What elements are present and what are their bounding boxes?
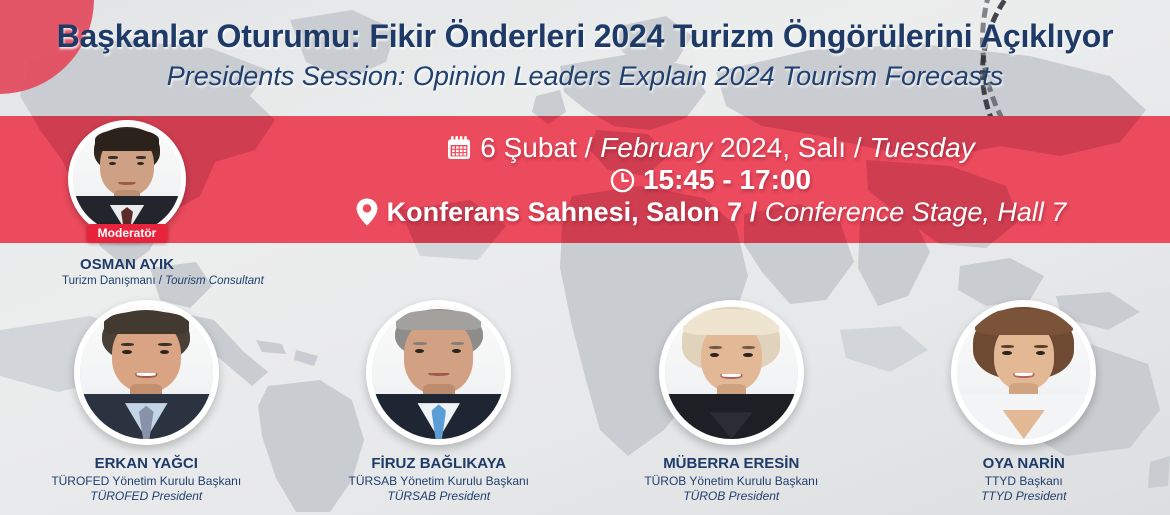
speaker-name: FİRUZ BAĞLIKAYA [371,455,506,472]
moderator-role-tr: Turizm Danışmanı / [62,275,162,287]
speaker-avatar [74,300,219,445]
event-date-tr: 6 Şubat / [480,132,592,163]
event-time: 15:45 - 17:00 [643,164,811,195]
moderator-badge: Moderatör [87,224,168,243]
speaker-photo [80,306,213,439]
event-details-text: 6 Şubat / February 2024, Salı / Tuesday … [250,116,1170,243]
speaker-avatar [951,300,1096,445]
speaker-avatar [659,300,804,445]
speaker-name: ERKAN YAĞCI [95,455,198,472]
page-subtitle: Presidents Session: Opinion Leaders Expl… [0,61,1170,92]
speaker-avatar [366,300,511,445]
event-venue-en: Conference Stage, Hall 7 [765,197,1067,227]
event-date-line: 6 Şubat / February 2024, Salı / Tuesday [445,132,974,163]
clock-icon [609,167,636,194]
speaker-card: ERKAN YAĞCI TÜROFED Yönetim Kurulu Başka… [0,300,293,515]
speaker-title-en: TTYD President [981,489,1066,503]
event-venue-line: Konferans Sahnesi, Salon 7 / Conference … [354,197,1067,227]
moderator-role-en: Tourism Consultant [165,275,264,287]
moderator-name: OSMAN AYIK [62,256,192,273]
speakers-row: ERKAN YAĞCI TÜROFED Yönetim Kurulu Başka… [0,300,1170,515]
title-block: Başkanlar Oturumu: Fikir Önderleri 2024 … [0,18,1170,92]
speaker-title-tr: TÜROB Yönetim Kurulu Başkanı [644,474,818,488]
speaker-title-en: TÜRSAB President [387,489,490,503]
page-title: Başkanlar Oturumu: Fikir Önderleri 2024 … [0,18,1170,55]
location-pin-icon [354,197,380,227]
event-banner-poster: Başkanlar Oturumu: Fikir Önderleri 2024 … [0,0,1170,515]
moderator-card: Moderatör OSMAN AYIK Turizm Danışmanı / … [62,120,192,287]
speaker-card: FİRUZ BAĞLIKAYA TÜRSAB Yönetim Kurulu Ba… [293,300,586,515]
speaker-title-tr: TÜROFED Yönetim Kurulu Başkanı [51,474,241,488]
event-venue-tr: Konferans Sahnesi, Salon 7 / [387,197,758,227]
speaker-name: OYA NARİN [983,455,1065,472]
speaker-title-tr: TÜRSAB Yönetim Kurulu Başkanı [348,474,529,488]
moderator-avatar: Moderatör [68,120,186,238]
event-time-line: 15:45 - 17:00 [609,164,811,195]
speaker-title-en: TÜROB President [683,489,779,503]
event-day-en: Tuesday [869,132,974,163]
speaker-photo [665,306,798,439]
moderator-photo [73,125,181,233]
speaker-name: MÜBERRA ERESİN [663,455,799,472]
event-date-en: February [600,132,712,163]
speaker-title-en: TÜROFED President [90,489,202,503]
moderator-role: Turizm Danışmanı / Tourism Consultant [62,275,192,287]
speaker-photo [957,306,1090,439]
speaker-photo [372,306,505,439]
event-date-year: 2024, Salı / [720,132,862,163]
calendar-icon [445,134,473,162]
speaker-title-tr: TTYD Başkanı [985,474,1063,488]
speaker-card: OYA NARİN TTYD Başkanı TTYD President [878,300,1170,515]
speaker-card: MÜBERRA ERESİN TÜROB Yönetim Kurulu Başk… [585,300,878,515]
